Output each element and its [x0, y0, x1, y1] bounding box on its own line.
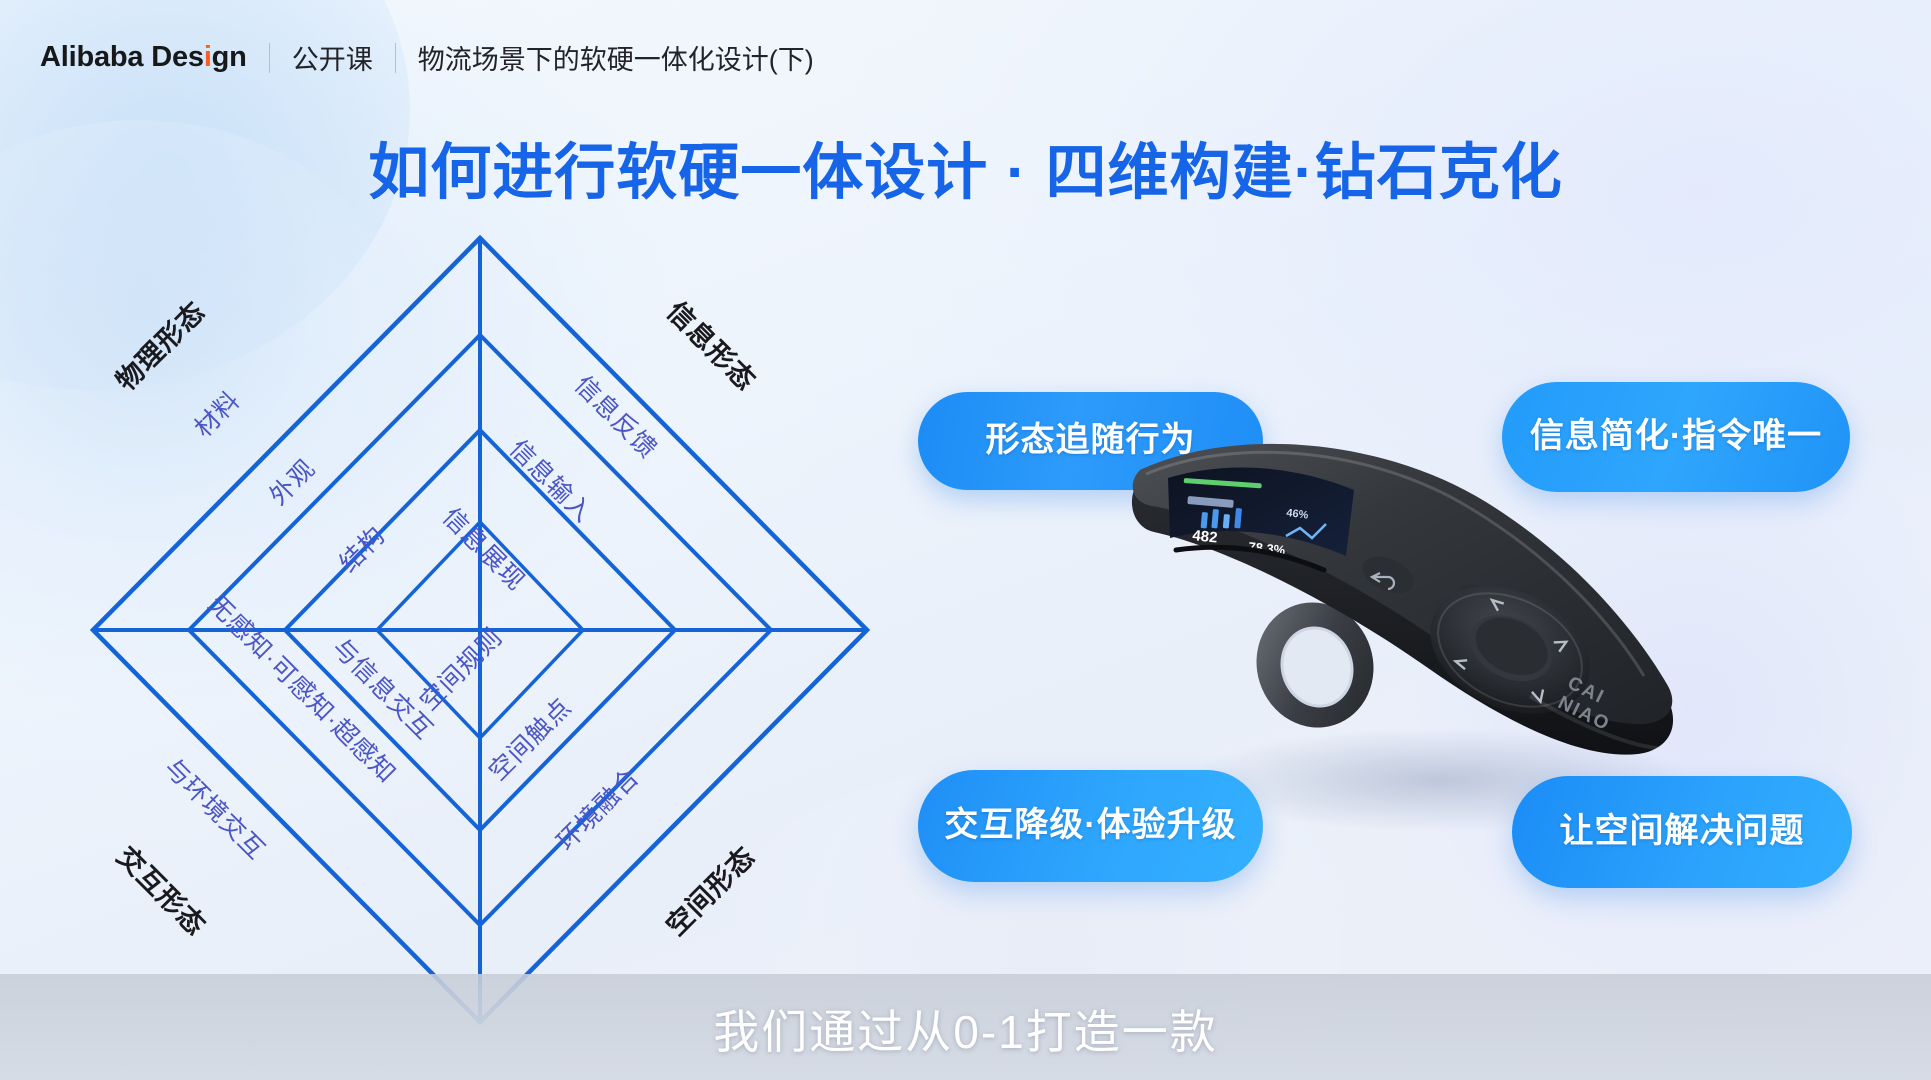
presentation-slide: Alibaba Design 公开课 物流场景下的软硬一体化设计(下) 如何进行…	[0, 0, 1931, 1080]
page-title: 如何进行软硬一体设计 · 四维构建·钻石克化	[0, 122, 1931, 211]
header-divider-2	[395, 43, 396, 73]
brand-logo: Alibaba Design	[40, 41, 247, 74]
brand-suffix: gn	[212, 41, 247, 73]
slide-header: Alibaba Design 公开课 物流场景下的软硬一体化设计(下)	[40, 38, 814, 77]
callout-pill-interaction-downgrade[interactable]: 交互降级·体验升级	[918, 770, 1263, 882]
callout-pill-space-solves[interactable]: 让空间解决问题	[1512, 776, 1852, 888]
header-course-label: 公开课	[292, 38, 373, 77]
header-lecture-title: 物流场景下的软硬一体化设计(下)	[418, 38, 814, 77]
brand-prefix: Alibaba Des	[40, 41, 204, 73]
header-divider-1	[269, 43, 270, 73]
diamond-diagram: 物理形态 材料 外观 结构 信息形态 信息反馈 信息输入 信息展现 交互形态 与…	[85, 230, 875, 1030]
device-screen: 482 78.3% 46%	[1168, 468, 1354, 558]
brand-accent-letter: i	[204, 41, 212, 73]
screen-value-primary: 482	[1192, 527, 1219, 547]
diamond-diagram-svg	[85, 230, 875, 1030]
subtitle-caption: 我们通过从0-1打造一款	[0, 996, 1931, 1062]
callout-pill-info-simplify[interactable]: 信息简化·指令唯一	[1502, 382, 1850, 492]
